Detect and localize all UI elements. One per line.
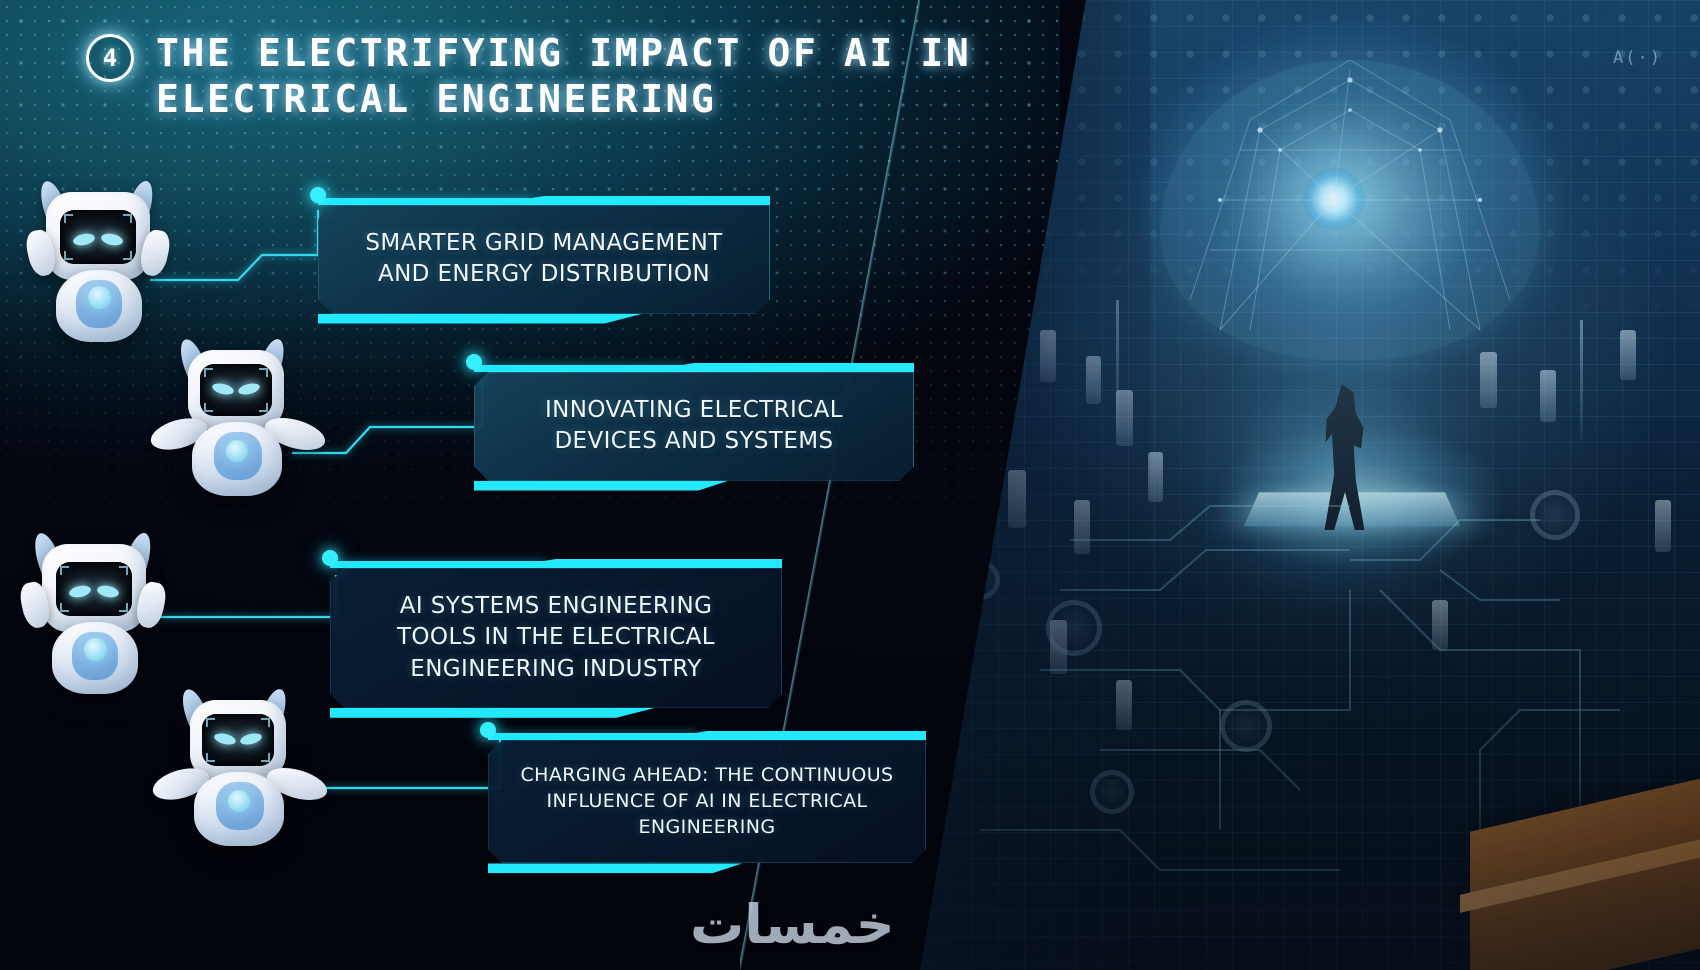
card-2-text: INNOVATING ELECTRICAL DEVICES AND SYSTEM… bbox=[505, 395, 883, 458]
face-corner-icon bbox=[259, 368, 268, 377]
step-number-badge: 4 bbox=[86, 34, 134, 82]
robot-eye-right-icon bbox=[237, 381, 261, 396]
robot-face-screen bbox=[60, 210, 136, 264]
card-2[interactable]: INNOVATING ELECTRICAL DEVICES AND SYSTEM… bbox=[474, 372, 914, 481]
card-3-accent-bottom bbox=[330, 708, 655, 718]
robot-3 bbox=[18, 530, 178, 690]
robot-head bbox=[188, 350, 284, 430]
watermark-khamsat: خمسات bbox=[690, 893, 895, 956]
card-1-node-icon bbox=[310, 187, 326, 203]
robot-eye-right-icon bbox=[96, 584, 120, 599]
card-2-accent-bottom bbox=[474, 481, 729, 491]
card-4-accent-top-line bbox=[488, 733, 698, 736]
robot-eye-left-icon bbox=[68, 584, 92, 599]
card-4[interactable]: CHARGING AHEAD: THE CONTINUOUS INFLUENCE… bbox=[488, 740, 926, 863]
face-corner-icon bbox=[123, 251, 132, 260]
robot-core-light-icon bbox=[84, 638, 107, 661]
robot-2 bbox=[150, 338, 330, 498]
robot-4 bbox=[152, 688, 332, 848]
robot-eye-left-icon bbox=[213, 731, 237, 746]
page-header: 4 THE ELECTRIFYING IMPACT OF AI IN ELECT… bbox=[86, 30, 1016, 123]
card-4-accent-bottom bbox=[488, 863, 742, 873]
face-corner-icon bbox=[119, 566, 128, 575]
face-corner-icon bbox=[261, 753, 270, 762]
robot-body bbox=[56, 270, 142, 342]
face-corner-icon bbox=[206, 718, 215, 727]
robot-face-screen bbox=[200, 364, 272, 416]
face-corner-icon bbox=[64, 214, 73, 223]
card-2-shell[interactable]: INNOVATING ELECTRICAL DEVICES AND SYSTEM… bbox=[474, 372, 914, 481]
robot-eye-right-icon bbox=[239, 731, 263, 746]
robot-1 bbox=[22, 178, 182, 338]
robot-body bbox=[52, 622, 138, 694]
card-4-shell[interactable]: CHARGING AHEAD: THE CONTINUOUS INFLUENCE… bbox=[488, 740, 926, 863]
robot-body bbox=[192, 422, 282, 496]
face-corner-icon bbox=[60, 566, 69, 575]
robot-face-screen bbox=[56, 562, 132, 616]
robot-core-light-icon bbox=[228, 790, 250, 812]
page-title: THE ELECTRIFYING IMPACT OF AI IN ELECTRI… bbox=[156, 30, 1016, 123]
infographic-poster: A(·) 4 THE ELECTRIFYING IMPACT OF AI IN … bbox=[0, 0, 1700, 970]
robot-eye-left-icon bbox=[211, 381, 235, 396]
card-1-shell[interactable]: SMARTER GRID MANAGEMENT AND ENERGY DISTR… bbox=[318, 205, 770, 314]
card-3-shell[interactable]: AI SYSTEMS ENGINEERING TOOLS IN THE ELEC… bbox=[330, 568, 782, 708]
card-1-accent-bottom bbox=[318, 314, 643, 324]
card-3-node-icon bbox=[322, 550, 338, 566]
card-4-node-icon bbox=[480, 722, 496, 738]
robot-head bbox=[42, 544, 146, 632]
card-1-accent-top-line bbox=[318, 198, 535, 201]
robot-eye-right-icon bbox=[100, 232, 124, 247]
robot-core-light-icon bbox=[226, 440, 248, 462]
face-corner-icon bbox=[204, 403, 213, 412]
card-3-text: AI SYSTEMS ENGINEERING TOOLS IN THE ELEC… bbox=[361, 591, 751, 685]
card-1-text: SMARTER GRID MANAGEMENT AND ENERGY DISTR… bbox=[349, 228, 739, 291]
robot-body bbox=[194, 772, 284, 846]
card-4-text: CHARGING AHEAD: THE CONTINUOUS INFLUENCE… bbox=[519, 763, 895, 840]
card-1[interactable]: SMARTER GRID MANAGEMENT AND ENERGY DISTR… bbox=[318, 205, 770, 314]
face-corner-icon bbox=[204, 368, 213, 377]
face-corner-icon bbox=[119, 603, 128, 612]
face-corner-icon bbox=[259, 403, 268, 412]
robot-head bbox=[190, 700, 286, 780]
robot-face-screen bbox=[202, 714, 274, 766]
card-2-accent-top-line bbox=[474, 365, 685, 368]
face-corner-icon bbox=[60, 603, 69, 612]
card-3-accent-top-line bbox=[330, 561, 547, 564]
robot-head bbox=[46, 192, 150, 280]
robot-core-light-icon bbox=[88, 286, 111, 309]
card-3[interactable]: AI SYSTEMS ENGINEERING TOOLS IN THE ELEC… bbox=[330, 568, 782, 708]
robot-eye-left-icon bbox=[72, 232, 96, 247]
face-corner-icon bbox=[123, 214, 132, 223]
face-corner-icon bbox=[261, 718, 270, 727]
face-corner-icon bbox=[64, 251, 73, 260]
face-corner-icon bbox=[206, 753, 215, 762]
card-2-node-icon bbox=[466, 354, 482, 370]
artwork-label: A(·) bbox=[1613, 48, 1662, 68]
